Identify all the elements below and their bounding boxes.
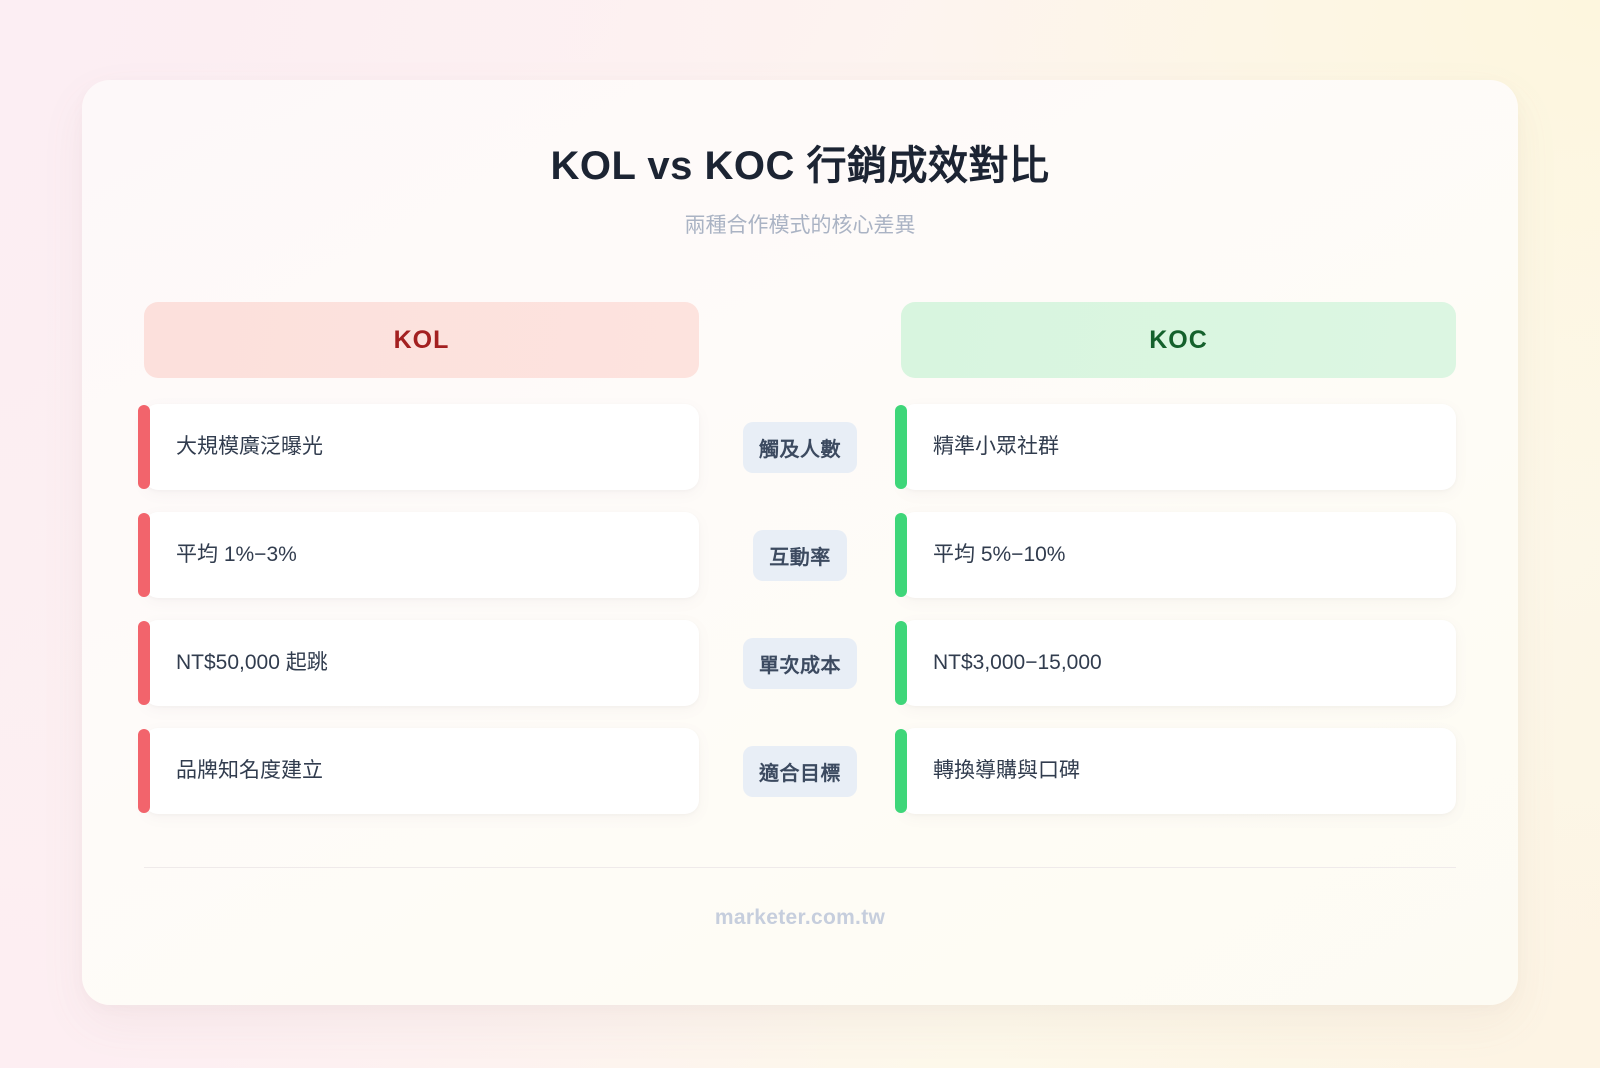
comparison-rows: 大規模廣泛曝光 觸及人數 精準小眾社群 平均 1%−3%: [144, 404, 1456, 814]
metric-label-wrap: 觸及人數: [699, 422, 901, 473]
page-stage: KOL vs KOC 行銷成效對比 兩種合作模式的核心差異 KOL KOC 大規…: [0, 0, 1600, 1068]
column-header-kol-label: KOL: [394, 326, 450, 355]
cell-koc-text: 精準小眾社群: [901, 433, 1059, 460]
comparison-grid: KOL KOC 大規模廣泛曝光 觸及人數: [144, 302, 1456, 814]
table-row: 品牌知名度建立 適合目標 轉換導購與口碑: [144, 728, 1456, 814]
table-row: NT$50,000 起跳 單次成本 NT$3,000−15,000: [144, 620, 1456, 706]
cell-koc: NT$3,000−15,000: [901, 620, 1456, 706]
column-header-koc: KOC: [901, 302, 1456, 378]
cell-kol: 平均 1%−3%: [144, 512, 699, 598]
comparison-card: KOL vs KOC 行銷成效對比 兩種合作模式的核心差異 KOL KOC 大規…: [82, 80, 1518, 1005]
cell-koc-text: NT$3,000−15,000: [901, 649, 1102, 676]
metric-label-wrap: 互動率: [699, 530, 901, 581]
table-row: 大規模廣泛曝光 觸及人數 精準小眾社群: [144, 404, 1456, 490]
column-header-kol: KOL: [144, 302, 699, 378]
metric-label: 適合目標: [743, 746, 857, 797]
cell-kol-text: 平均 1%−3%: [144, 541, 297, 568]
accent-bar-koc-icon: [895, 729, 907, 813]
cell-kol-text: 大規模廣泛曝光: [144, 433, 323, 460]
cell-koc-text: 轉換導購與口碑: [901, 757, 1080, 784]
column-header-koc-label: KOC: [1149, 326, 1208, 355]
footer-divider: [144, 867, 1456, 868]
cell-kol: 大規模廣泛曝光: [144, 404, 699, 490]
cell-kol: NT$50,000 起跳: [144, 620, 699, 706]
accent-bar-koc-icon: [895, 405, 907, 489]
metric-label: 互動率: [753, 530, 847, 581]
column-headers: KOL KOC: [144, 302, 1456, 378]
accent-bar-kol-icon: [138, 729, 150, 813]
column-header-spacer: [699, 302, 901, 378]
accent-bar-koc-icon: [895, 513, 907, 597]
page-subtitle: 兩種合作模式的核心差異: [82, 212, 1518, 239]
accent-bar-koc-icon: [895, 621, 907, 705]
metric-label: 觸及人數: [743, 422, 857, 473]
cell-koc-text: 平均 5%−10%: [901, 541, 1065, 568]
metric-label-wrap: 單次成本: [699, 638, 901, 689]
cell-kol-text: NT$50,000 起跳: [144, 649, 328, 676]
table-row: 平均 1%−3% 互動率 平均 5%−10%: [144, 512, 1456, 598]
cell-koc: 精準小眾社群: [901, 404, 1456, 490]
cell-kol-text: 品牌知名度建立: [144, 757, 323, 784]
page-title: KOL vs KOC 行銷成效對比: [82, 142, 1518, 190]
metric-label: 單次成本: [743, 638, 857, 689]
metric-label-wrap: 適合目標: [699, 746, 901, 797]
cell-kol: 品牌知名度建立: [144, 728, 699, 814]
accent-bar-kol-icon: [138, 513, 150, 597]
cell-koc: 轉換導購與口碑: [901, 728, 1456, 814]
accent-bar-kol-icon: [138, 621, 150, 705]
accent-bar-kol-icon: [138, 405, 150, 489]
card-header: KOL vs KOC 行銷成效對比 兩種合作模式的核心差異: [82, 80, 1518, 239]
cell-koc: 平均 5%−10%: [901, 512, 1456, 598]
footer-site: marketer.com.tw: [82, 906, 1518, 930]
